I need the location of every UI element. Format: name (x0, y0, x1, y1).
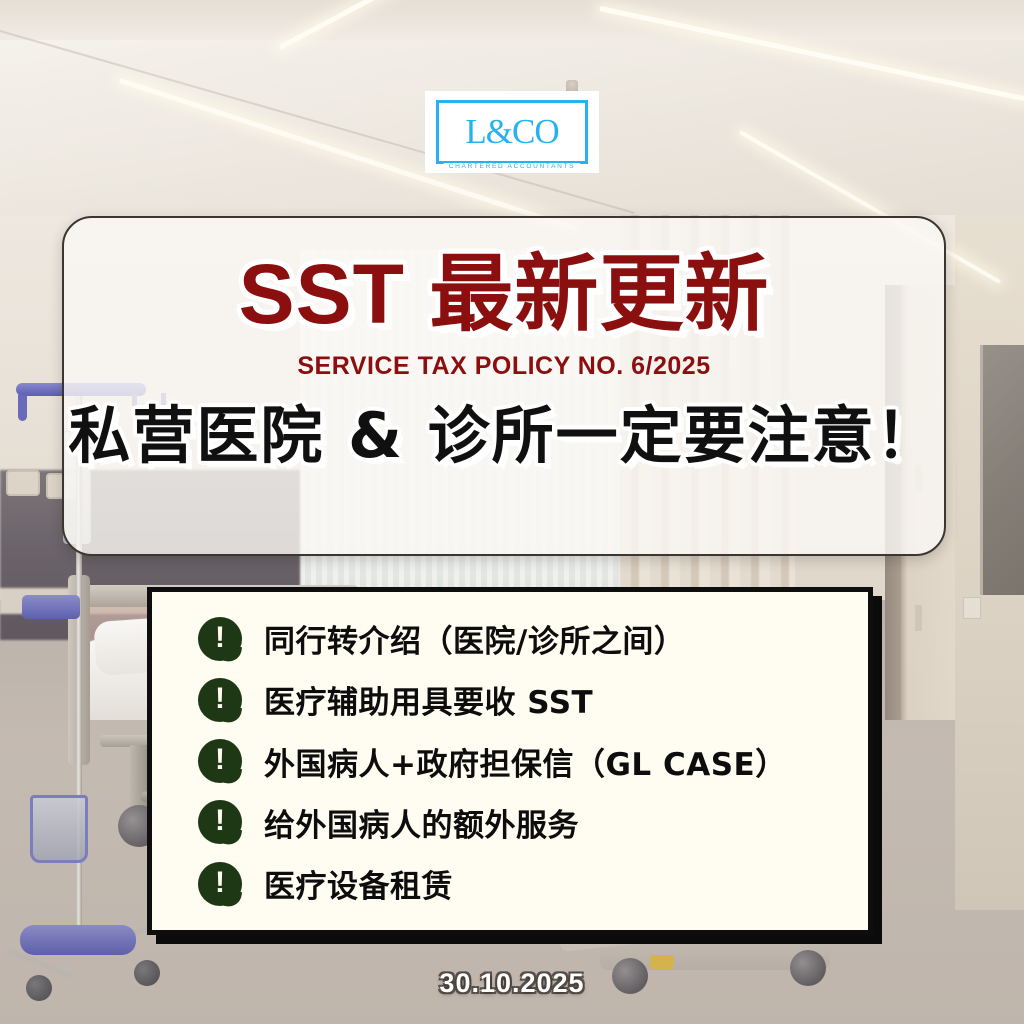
headline-card: SST 最新更新 SERVICE TAX POLICY NO. 6/2025 私… (62, 216, 946, 556)
list-item-label: 医疗设备租赁 (264, 861, 453, 906)
brand-logo-tagline: CHARTERED ACCOUNTANTS (444, 163, 580, 170)
page-tagline: 私营医院 & 诊所一定要注意！ (68, 403, 939, 468)
list-item: ! 医疗设备租赁 (198, 861, 868, 906)
list-item-label: 给外国病人的额外服务 (264, 800, 579, 845)
list-item-label: 外国病人+政府担保信（GL CASE） (264, 739, 787, 784)
page-title-cjk: 最新更新 (429, 245, 769, 343)
list-item: ! 给外国病人的额外服务 (198, 800, 868, 845)
page-subtitle: SERVICE TAX POLICY NO. 6/2025 (297, 352, 710, 381)
list-item: ! 医疗辅助用具要收 SST (198, 677, 868, 722)
alert-bubble-icon: ! (198, 800, 242, 844)
page-title-latin: SST (239, 247, 405, 341)
list-item: ! 同行转介绍（医院/诊所之间） (198, 616, 868, 661)
alert-bubble-icon: ! (198, 739, 242, 783)
alert-bubble-icon: ! (198, 862, 242, 906)
poster-canvas: L&CO CHARTERED ACCOUNTANTS SST 最新更新 SERV… (0, 0, 1024, 1024)
page-title: SST 最新更新 (239, 252, 770, 336)
bullet-list-card: ! 同行转介绍（医院/诊所之间） ! 医疗辅助用具要收 SST ! 外国病人+政… (147, 587, 873, 935)
list-item-label: 医疗辅助用具要收 SST (264, 677, 593, 722)
alert-bubble-icon: ! (198, 678, 242, 722)
brand-logo-frame: L&CO CHARTERED ACCOUNTANTS (436, 100, 588, 164)
list-item-label: 同行转介绍（医院/诊所之间） (264, 616, 685, 661)
list-item: ! 外国病人+政府担保信（GL CASE） (198, 739, 868, 784)
brand-logo: L&CO CHARTERED ACCOUNTANTS (425, 91, 599, 173)
publish-date: 30.10.2025 (0, 968, 1024, 999)
alert-bubble-icon: ! (198, 617, 242, 661)
brand-logo-mark: L&CO (465, 114, 558, 149)
